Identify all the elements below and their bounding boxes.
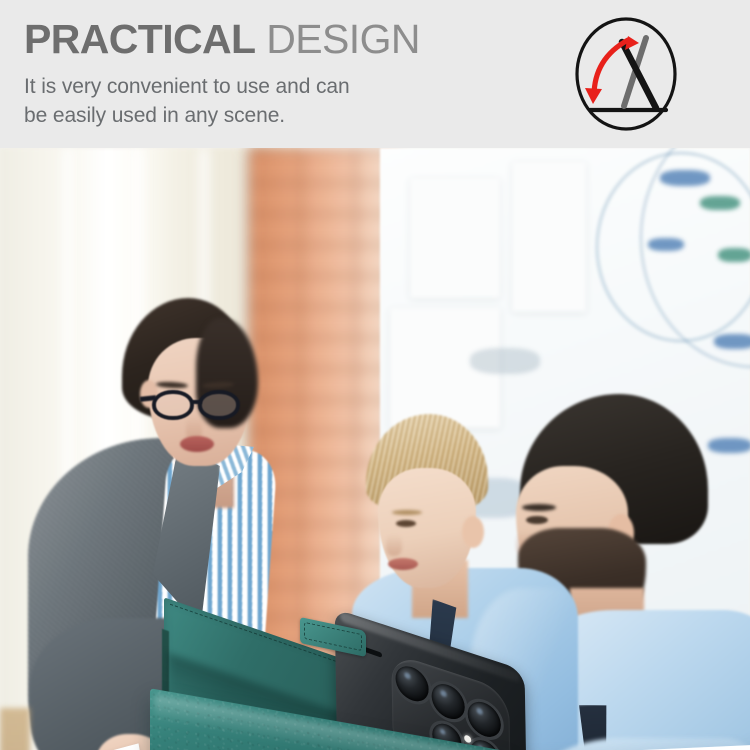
title-light: DESIGN [266,16,420,62]
product-lifestyle-photo [0,148,750,750]
whiteboard-smudge [470,348,540,374]
eyeglasses-lens-left [152,390,194,420]
pinned-note [410,178,500,298]
page-title: PRACTICAL DESIGN [24,16,524,62]
subtitle-line-1: It is very convenient to use and can [24,72,524,101]
page-subtitle: It is very convenient to use and can be … [24,72,524,130]
product-feature-card: PRACTICAL DESIGN It is very convenient t… [0,0,750,750]
woman-mouth [180,436,214,452]
blond-man-ear [462,516,484,548]
header-text-block: PRACTICAL DESIGN It is very convenient t… [24,16,524,130]
header-band: PRACTICAL DESIGN It is very convenient t… [0,0,750,148]
title-strong: PRACTICAL [24,16,255,62]
whiteboard-ink-text [660,170,710,186]
bearded-man-eyebrow [522,504,556,511]
eyeglasses-bridge [192,400,202,404]
blond-man-mouth [388,558,418,570]
whiteboard-ink-text [708,438,750,453]
pinned-note [512,162,586,312]
subtitle-line-2: be easily used in any scene. [24,101,524,130]
whiteboard-ink-text [718,248,750,262]
window-mullion [60,148,76,488]
whiteboard-ink-text [714,334,750,349]
phone-wallet-case [140,624,560,750]
blond-man-eye [396,520,416,527]
blond-man-eyebrow [392,510,422,515]
adjustable-kickstand-angle-icon [566,14,686,134]
whiteboard-ink-text [700,196,740,210]
bearded-man-eye [526,516,548,524]
wood-frame-strip [0,708,30,750]
blond-man-nose [386,534,402,556]
whiteboard-ink-text [648,238,684,251]
eyeglasses-lens-right [198,390,240,420]
